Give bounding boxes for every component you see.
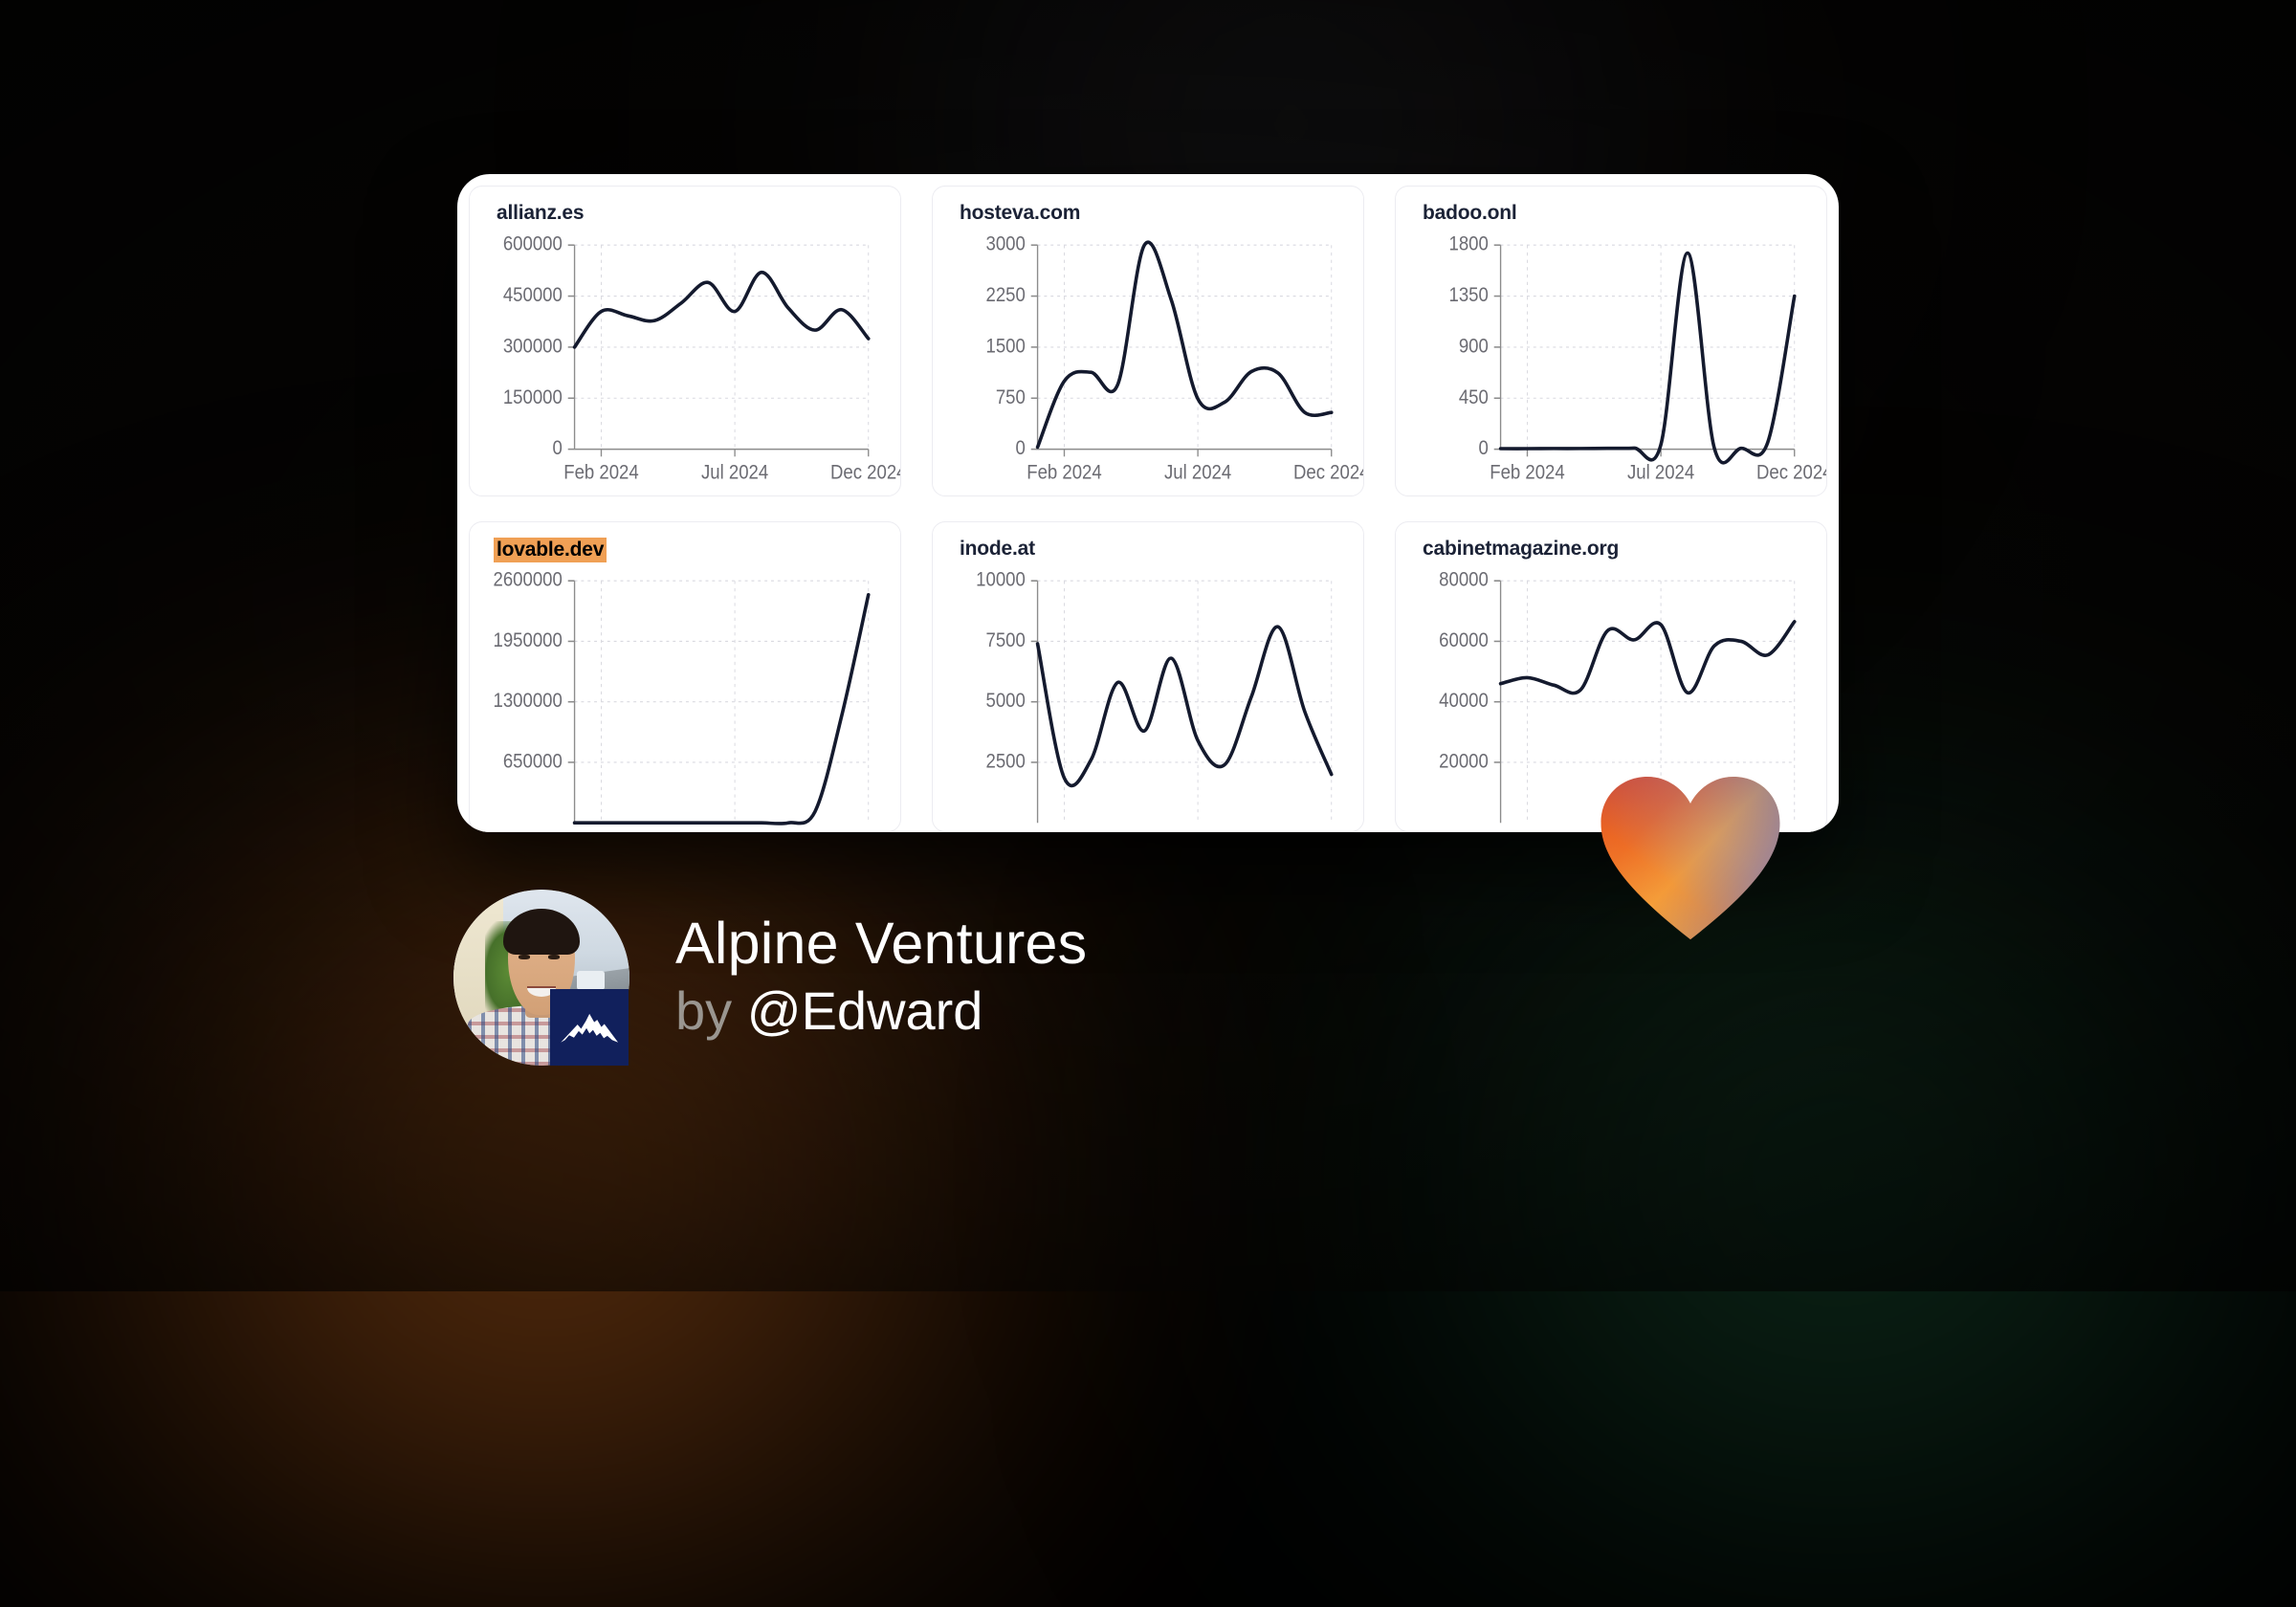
- y-tick-label: 40000: [1439, 690, 1489, 712]
- chart-series-line: [575, 273, 869, 347]
- y-tick-label: 80000: [1439, 569, 1489, 591]
- byline-prefix: by: [675, 980, 732, 1041]
- y-tick-label: 0: [1016, 437, 1026, 459]
- chart-title: allianz.es: [497, 202, 584, 225]
- chart-series-line: [1501, 253, 1795, 462]
- y-tick-label: 5000: [986, 690, 1026, 712]
- x-tick-label: Jul 2024: [701, 461, 768, 483]
- y-tick-label: 450000: [503, 284, 563, 306]
- y-tick-label: 7500: [986, 629, 1026, 651]
- chart-plot-area: 650000130000019500002600000: [470, 568, 900, 831]
- y-tick-label: 2600000: [494, 569, 563, 591]
- x-tick-label: Feb 2024: [1027, 461, 1102, 483]
- chart-plot-area: 0150000300000450000600000Feb 2024Jul 202…: [470, 232, 900, 495]
- chart-title: lovable.dev: [494, 538, 607, 562]
- chart-tile[interactable]: lovable.dev650000130000019500002600000: [469, 521, 901, 832]
- byline-handle: @Edward: [747, 980, 983, 1041]
- x-tick-label: Dec 2024: [830, 461, 900, 483]
- chart-tile-grid: allianz.es0150000300000450000600000Feb 2…: [457, 174, 1839, 832]
- y-tick-label: 1300000: [494, 690, 563, 712]
- footer-attribution: Alpine Ventures by @Edward: [453, 890, 1087, 1066]
- y-tick-label: 1500: [986, 335, 1026, 357]
- avatar-with-badge: [453, 890, 629, 1066]
- y-tick-label: 1350: [1449, 284, 1489, 306]
- chart-title: cabinetmagazine.org: [1423, 538, 1619, 561]
- chart-series-line: [1038, 242, 1332, 447]
- chart-tile[interactable]: hosteva.com0750150022503000Feb 2024Jul 2…: [932, 186, 1364, 496]
- y-tick-label: 900: [1459, 335, 1489, 357]
- x-tick-label: Feb 2024: [1490, 461, 1565, 483]
- mountain-logo-icon: [550, 989, 629, 1066]
- y-tick-label: 60000: [1439, 629, 1489, 651]
- footer-text-block: Alpine Ventures by @Edward: [675, 914, 1087, 1042]
- y-tick-label: 150000: [503, 386, 563, 408]
- x-tick-label: Dec 2024: [1756, 461, 1826, 483]
- y-tick-label: 750: [996, 386, 1026, 408]
- y-tick-label: 1800: [1449, 233, 1489, 255]
- y-tick-label: 2500: [986, 751, 1026, 773]
- chart-tile[interactable]: allianz.es0150000300000450000600000Feb 2…: [469, 186, 901, 496]
- y-tick-label: 300000: [503, 335, 563, 357]
- chart-title: inode.at: [960, 538, 1035, 561]
- x-tick-label: Jul 2024: [1164, 461, 1231, 483]
- chart-title: badoo.onl: [1423, 202, 1517, 225]
- y-tick-label: 650000: [503, 751, 563, 773]
- account-name: Alpine Ventures: [675, 914, 1087, 973]
- y-tick-label: 3000: [986, 233, 1026, 255]
- x-tick-label: Feb 2024: [563, 461, 639, 483]
- chart-plot-area: 25005000750010000: [933, 568, 1363, 831]
- dashboard-card: allianz.es0150000300000450000600000Feb 2…: [457, 174, 1839, 832]
- y-tick-label: 0: [1479, 437, 1489, 459]
- y-tick-label: 2250: [986, 284, 1026, 306]
- x-tick-label: Dec 2024: [1293, 461, 1363, 483]
- y-tick-label: 10000: [976, 569, 1026, 591]
- chart-plot-area: 0750150022503000Feb 2024Jul 2024Dec 2024: [933, 232, 1363, 495]
- chart-tile[interactable]: badoo.onl045090013501800Feb 2024Jul 2024…: [1395, 186, 1827, 496]
- x-tick-label: Jul 2024: [1627, 461, 1694, 483]
- chart-series-line: [1501, 622, 1795, 693]
- y-tick-label: 1950000: [494, 629, 563, 651]
- byline: by @Edward: [675, 980, 1087, 1042]
- chart-tile[interactable]: inode.at25005000750010000: [932, 521, 1364, 832]
- chart-title: hosteva.com: [960, 202, 1080, 225]
- chart-series-line: [575, 595, 869, 824]
- y-tick-label: 450: [1459, 386, 1489, 408]
- chart-plot-area: 045090013501800Feb 2024Jul 2024Dec 2024: [1396, 232, 1826, 495]
- y-tick-label: 0: [553, 437, 563, 459]
- y-tick-label: 600000: [503, 233, 563, 255]
- y-tick-label: 20000: [1439, 751, 1489, 773]
- gradient-heart-icon[interactable]: [1600, 777, 1781, 941]
